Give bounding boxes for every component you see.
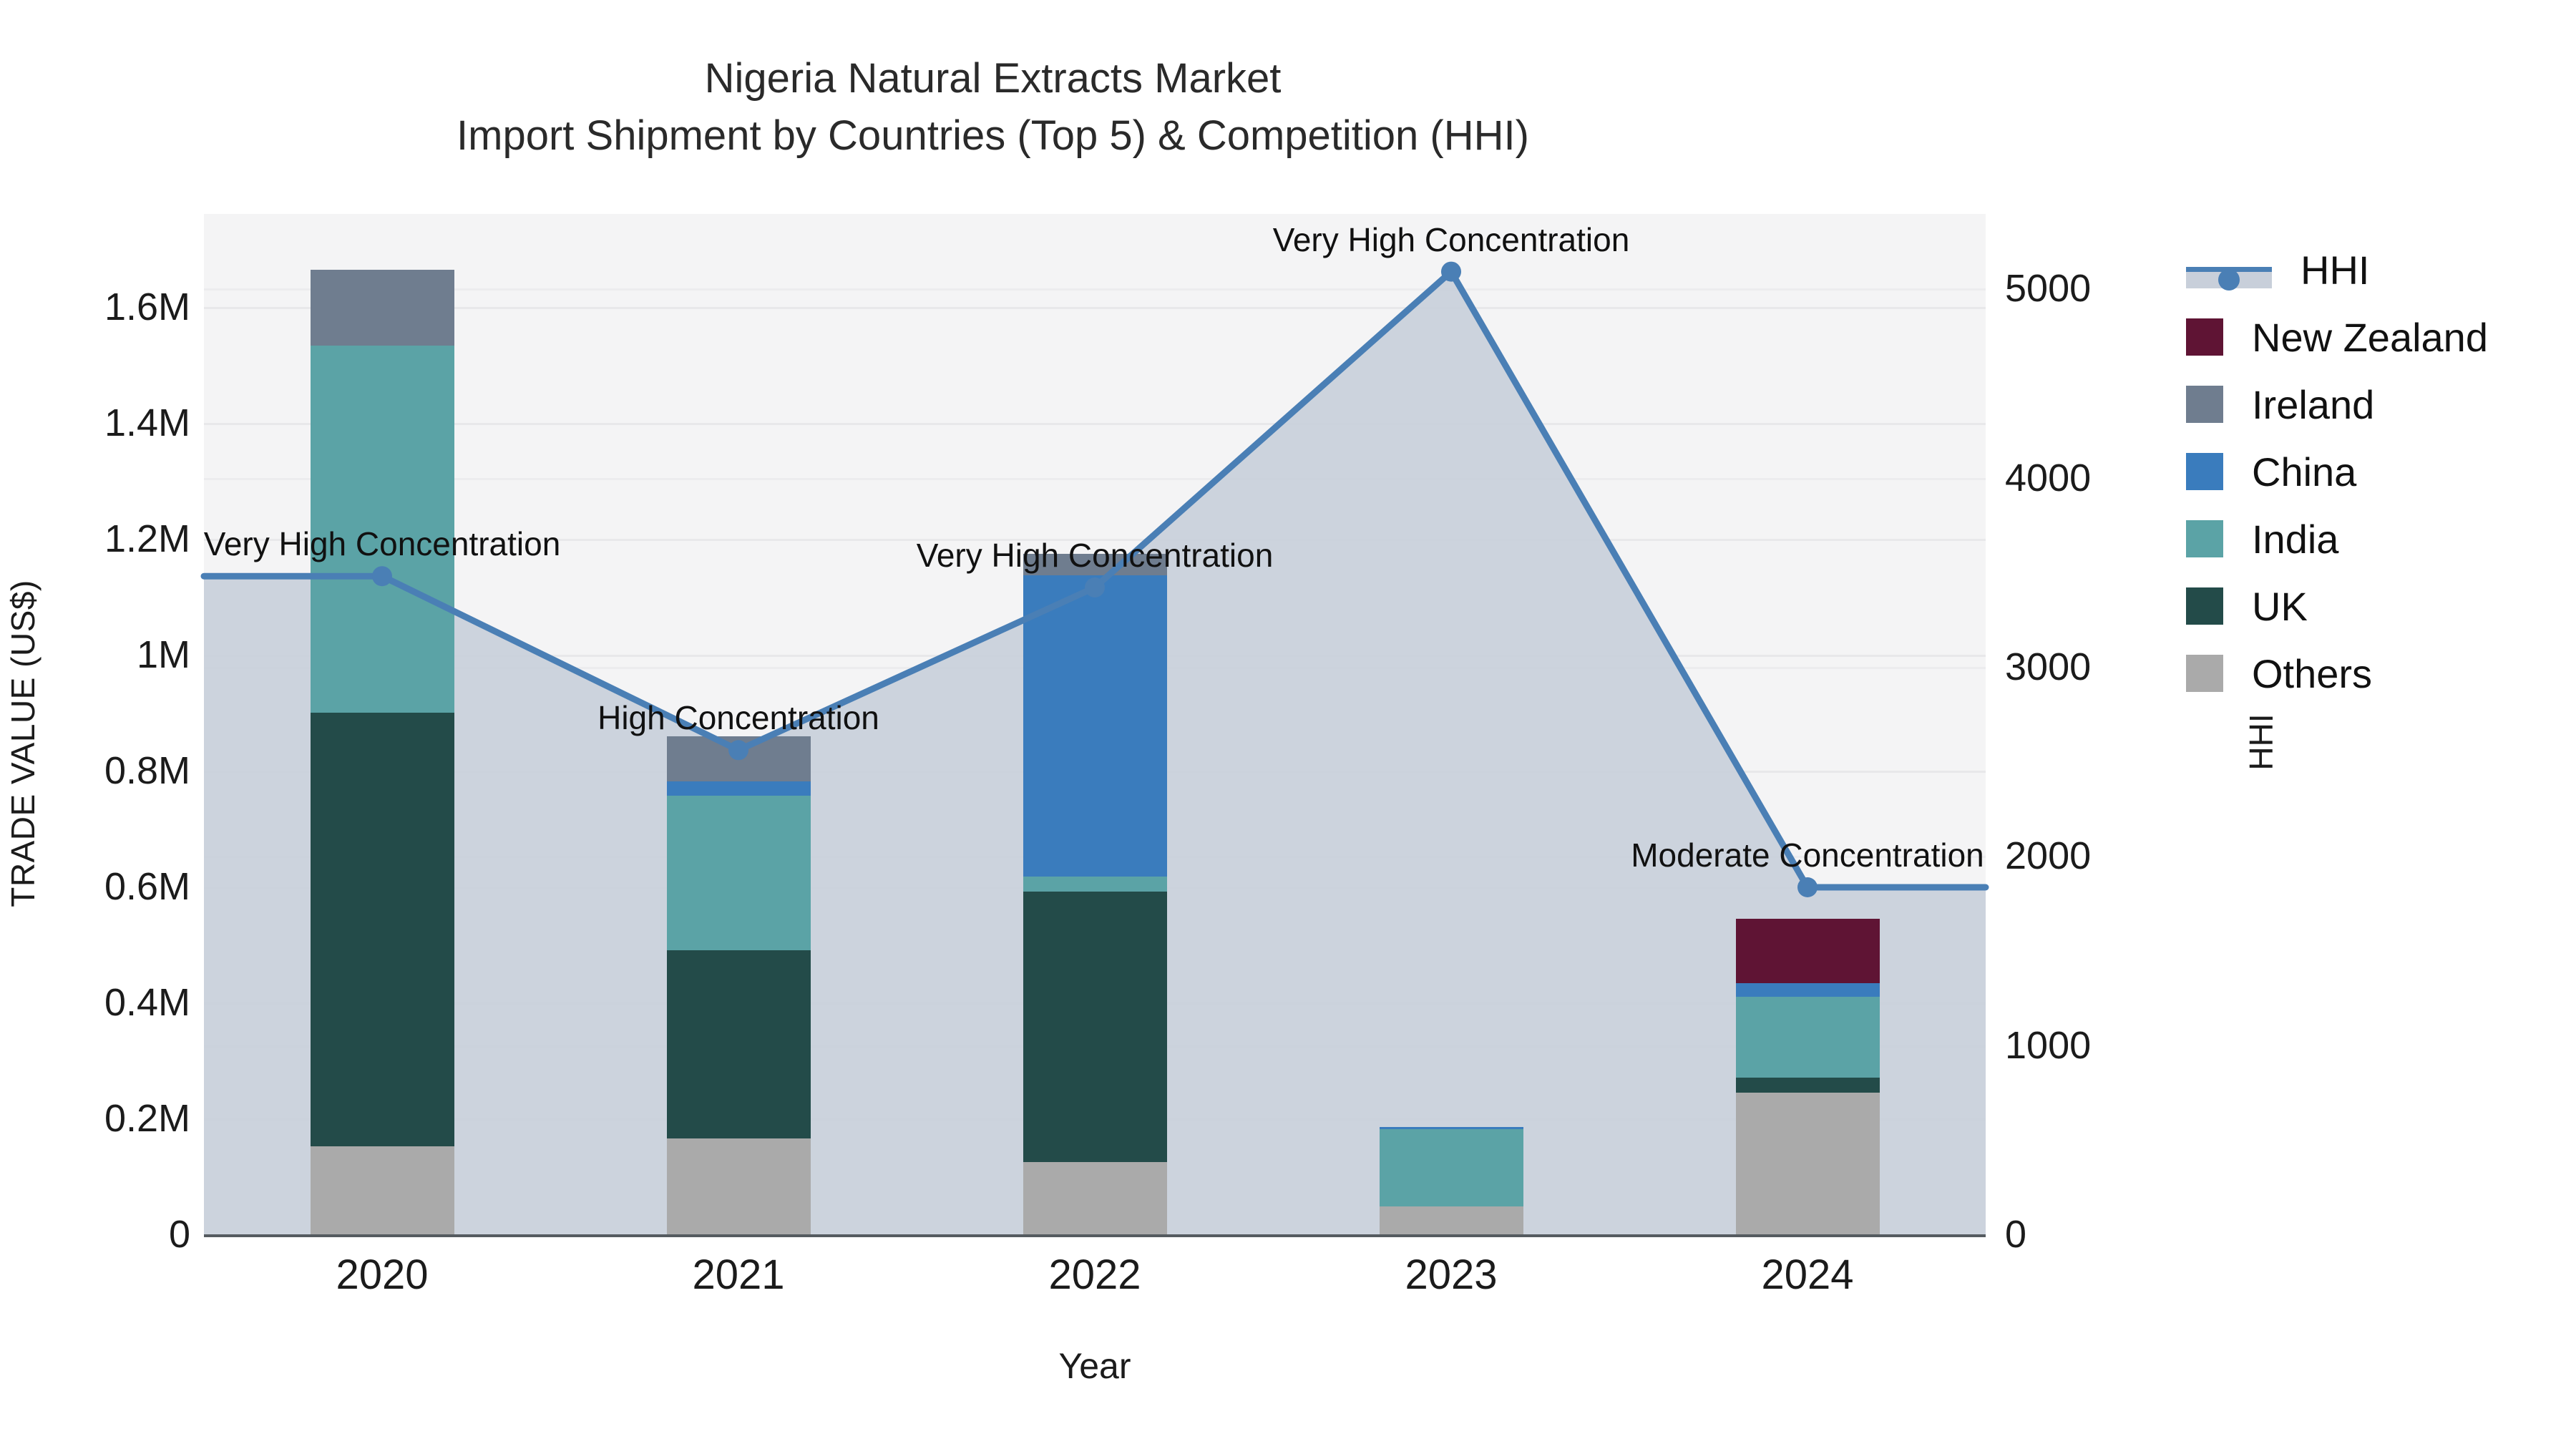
y-axis-right-tick-label: 1000 xyxy=(2005,1023,2091,1068)
y-axis-left-tick-label: 0.8M xyxy=(104,748,190,793)
hhi-marker[interactable] xyxy=(1797,877,1818,897)
legend-item-label: HHI xyxy=(2301,247,2369,293)
y-axis-right-tick-label: 2000 xyxy=(2005,834,2091,878)
legend-item-label: Ireland xyxy=(2252,381,2374,428)
y-axis-right-tick-label: 4000 xyxy=(2005,456,2091,500)
y-axis-left-title: TRADE VALUE (US$) xyxy=(4,543,42,944)
y-axis-left-tick-label: 1.6M xyxy=(104,285,190,329)
concentration-annotation: Very High Concentration xyxy=(917,536,1274,575)
legend-item[interactable]: China xyxy=(2186,438,2572,505)
x-axis-title: Year xyxy=(204,1345,1986,1387)
legend-color-swatch xyxy=(2186,520,2223,557)
hhi-line-path xyxy=(204,214,1986,1234)
chart-title: Nigeria Natural Extracts Market Import S… xyxy=(0,50,1986,165)
legend-item[interactable]: Ireland xyxy=(2186,371,2572,438)
x-axis-tick-label: 2022 xyxy=(1048,1251,1141,1299)
legend-item[interactable]: UK xyxy=(2186,572,2572,640)
legend-item-label: New Zealand xyxy=(2252,314,2488,361)
y-axis-left-tick-label: 1.2M xyxy=(104,517,190,561)
concentration-annotation: Very High Concentration xyxy=(204,525,561,563)
y-axis-left-tick-label: 1M xyxy=(137,633,190,677)
y-axis-right-tick-label: 5000 xyxy=(2005,266,2091,311)
x-axis-tick-label: 2023 xyxy=(1405,1251,1497,1299)
hhi-marker[interactable] xyxy=(728,740,748,760)
plot-area xyxy=(204,214,1986,1234)
chart-title-line-2: Import Shipment by Countries (Top 5) & C… xyxy=(0,107,1986,165)
legend-item-label: UK xyxy=(2252,583,2308,630)
legend-item[interactable]: HHI xyxy=(2186,236,2572,303)
chart-title-line-1: Nigeria Natural Extracts Market xyxy=(0,50,1986,107)
y-axis-right-ticks: 010002000300040005000 xyxy=(2004,0,2218,1449)
legend-color-swatch xyxy=(2186,318,2223,356)
legend-item[interactable]: India xyxy=(2186,505,2572,572)
y-axis-left-tick-label: 0.2M xyxy=(104,1096,190,1141)
y-axis-left-tick-label: 0.4M xyxy=(104,980,190,1025)
x-axis-tick-label: 2020 xyxy=(336,1251,428,1299)
legend-item[interactable]: New Zealand xyxy=(2186,303,2572,371)
legend-line-swatch xyxy=(2186,251,2272,288)
y-axis-left-tick-label: 0.6M xyxy=(104,864,190,909)
concentration-annotation: Moderate Concentration xyxy=(1631,836,1984,874)
x-axis-tick-label: 2024 xyxy=(1761,1251,1853,1299)
concentration-annotation: High Concentration xyxy=(597,698,879,737)
legend-item-label: China xyxy=(2252,449,2356,495)
legend-color-swatch xyxy=(2186,453,2223,490)
legend-color-swatch xyxy=(2186,655,2223,692)
hhi-marker[interactable] xyxy=(372,566,392,586)
x-axis-line xyxy=(204,1234,1986,1237)
legend: HHI New Zealand Ireland China India UK O… xyxy=(2186,236,2572,707)
chart-canvas: Nigeria Natural Extracts Market Import S… xyxy=(0,0,2576,1449)
legend-item-label: India xyxy=(2252,516,2338,562)
hhi-marker[interactable] xyxy=(1085,577,1105,597)
y-axis-right-tick-label: 3000 xyxy=(2005,645,2091,689)
legend-item[interactable]: Others xyxy=(2186,640,2572,707)
legend-item-label: Others xyxy=(2252,650,2372,697)
y-axis-right-tick-label: 0 xyxy=(2005,1212,2026,1257)
legend-color-swatch xyxy=(2186,386,2223,423)
y-axis-left-tick-label: 1.4M xyxy=(104,401,190,445)
hhi-marker[interactable] xyxy=(1441,262,1461,282)
concentration-annotation: Very High Concentration xyxy=(1273,220,1630,259)
y-axis-left-tick-label: 0 xyxy=(169,1212,190,1257)
legend-color-swatch xyxy=(2186,587,2223,625)
x-axis-tick-label: 2021 xyxy=(692,1251,784,1299)
